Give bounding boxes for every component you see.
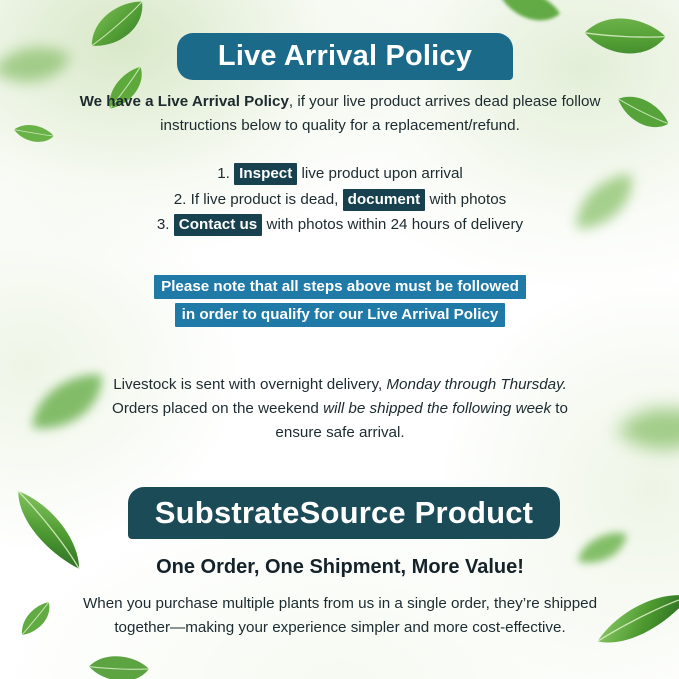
intro-paragraph: We have a Live Arrival Policy, if your l… [70, 90, 610, 138]
step-text: with photos within 24 hours of delivery [266, 216, 523, 233]
step-number: 1. [217, 165, 230, 182]
live-arrival-policy-banner: Live Arrival Policy [177, 33, 513, 80]
list-item: 2. If live product is dead, document wit… [70, 191, 610, 208]
list-item: 3. Contact us with photos within 24 hour… [70, 216, 610, 233]
step-number: 2. [174, 191, 187, 208]
policy-content: Live Arrival Policy We have a Live Arriv… [0, 0, 679, 679]
step-highlight-contact-us[interactable]: Contact us [174, 214, 262, 236]
step-text: live product upon arrival [302, 165, 463, 182]
livestock-part-1: Livestock is sent with overnight deliver… [113, 376, 386, 393]
intro-bold-lead: We have a Live Arrival Policy [80, 93, 289, 110]
value-heading: One Order, One Shipment, More Value! [78, 556, 602, 579]
livestock-italic-1: Monday through Thursday. [386, 376, 566, 393]
step-number: 3. [157, 216, 170, 233]
note-highlight: in order to qualify for our Live Arrival… [175, 303, 506, 327]
policy-note-line-2: in order to qualify for our Live Arrival… [70, 303, 610, 327]
step-text-before: If live product is dead, [191, 191, 339, 208]
live-arrival-policy-infographic: Live Arrival Policy We have a Live Arriv… [0, 0, 679, 679]
step-text: with photos [429, 191, 506, 208]
policy-steps-list: 1. Inspect live product upon arrival 2. … [70, 165, 610, 242]
step-highlight-inspect: Inspect [234, 163, 297, 185]
step-highlight-document: document [343, 189, 426, 211]
note-highlight: Please note that all steps above must be… [154, 275, 526, 299]
policy-note-line-1: Please note that all steps above must be… [70, 275, 610, 299]
list-item: 1. Inspect live product upon arrival [70, 165, 610, 182]
livestock-part-2: Orders placed on the weekend [112, 400, 323, 417]
value-paragraph: When you purchase multiple plants from u… [78, 592, 602, 640]
livestock-italic-2: will be shipped the following week [323, 400, 551, 417]
substratesource-product-banner: SubstrateSource Product [128, 487, 560, 539]
livestock-shipping-paragraph: Livestock is sent with overnight deliver… [88, 373, 592, 445]
